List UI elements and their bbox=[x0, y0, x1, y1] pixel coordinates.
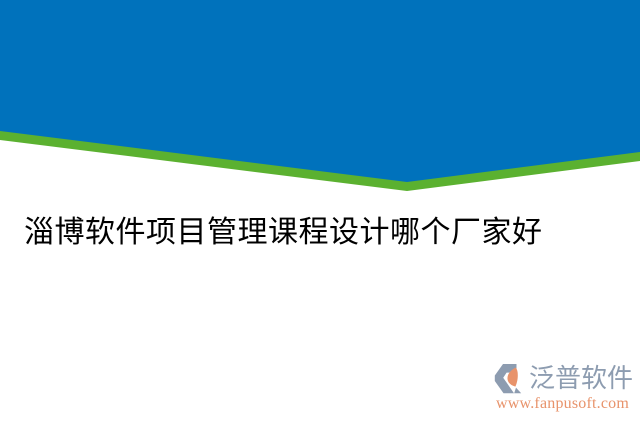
chevron-banner bbox=[0, 0, 640, 200]
brand-logo[interactable]: 泛普软件 www.fanpusoft.com bbox=[494, 361, 632, 415]
brand-logo-row: 泛普软件 bbox=[494, 361, 633, 395]
fanpu-c-leaf-icon bbox=[494, 363, 527, 394]
banner-blue-body bbox=[0, 0, 640, 182]
slide-canvas: 淄博软件项目管理课程设计哪个厂家好 泛普软件 www.fanpusoft.com bbox=[0, 0, 640, 427]
page-title: 淄博软件项目管理课程设计哪个厂家好 bbox=[24, 212, 543, 254]
brand-wordmark: 泛普软件 bbox=[529, 363, 633, 393]
brand-url: www.fanpusoft.com bbox=[496, 394, 629, 413]
title-block: 淄博软件项目管理课程设计哪个厂家好 bbox=[0, 212, 640, 262]
banner-green-edge bbox=[0, 0, 640, 191]
